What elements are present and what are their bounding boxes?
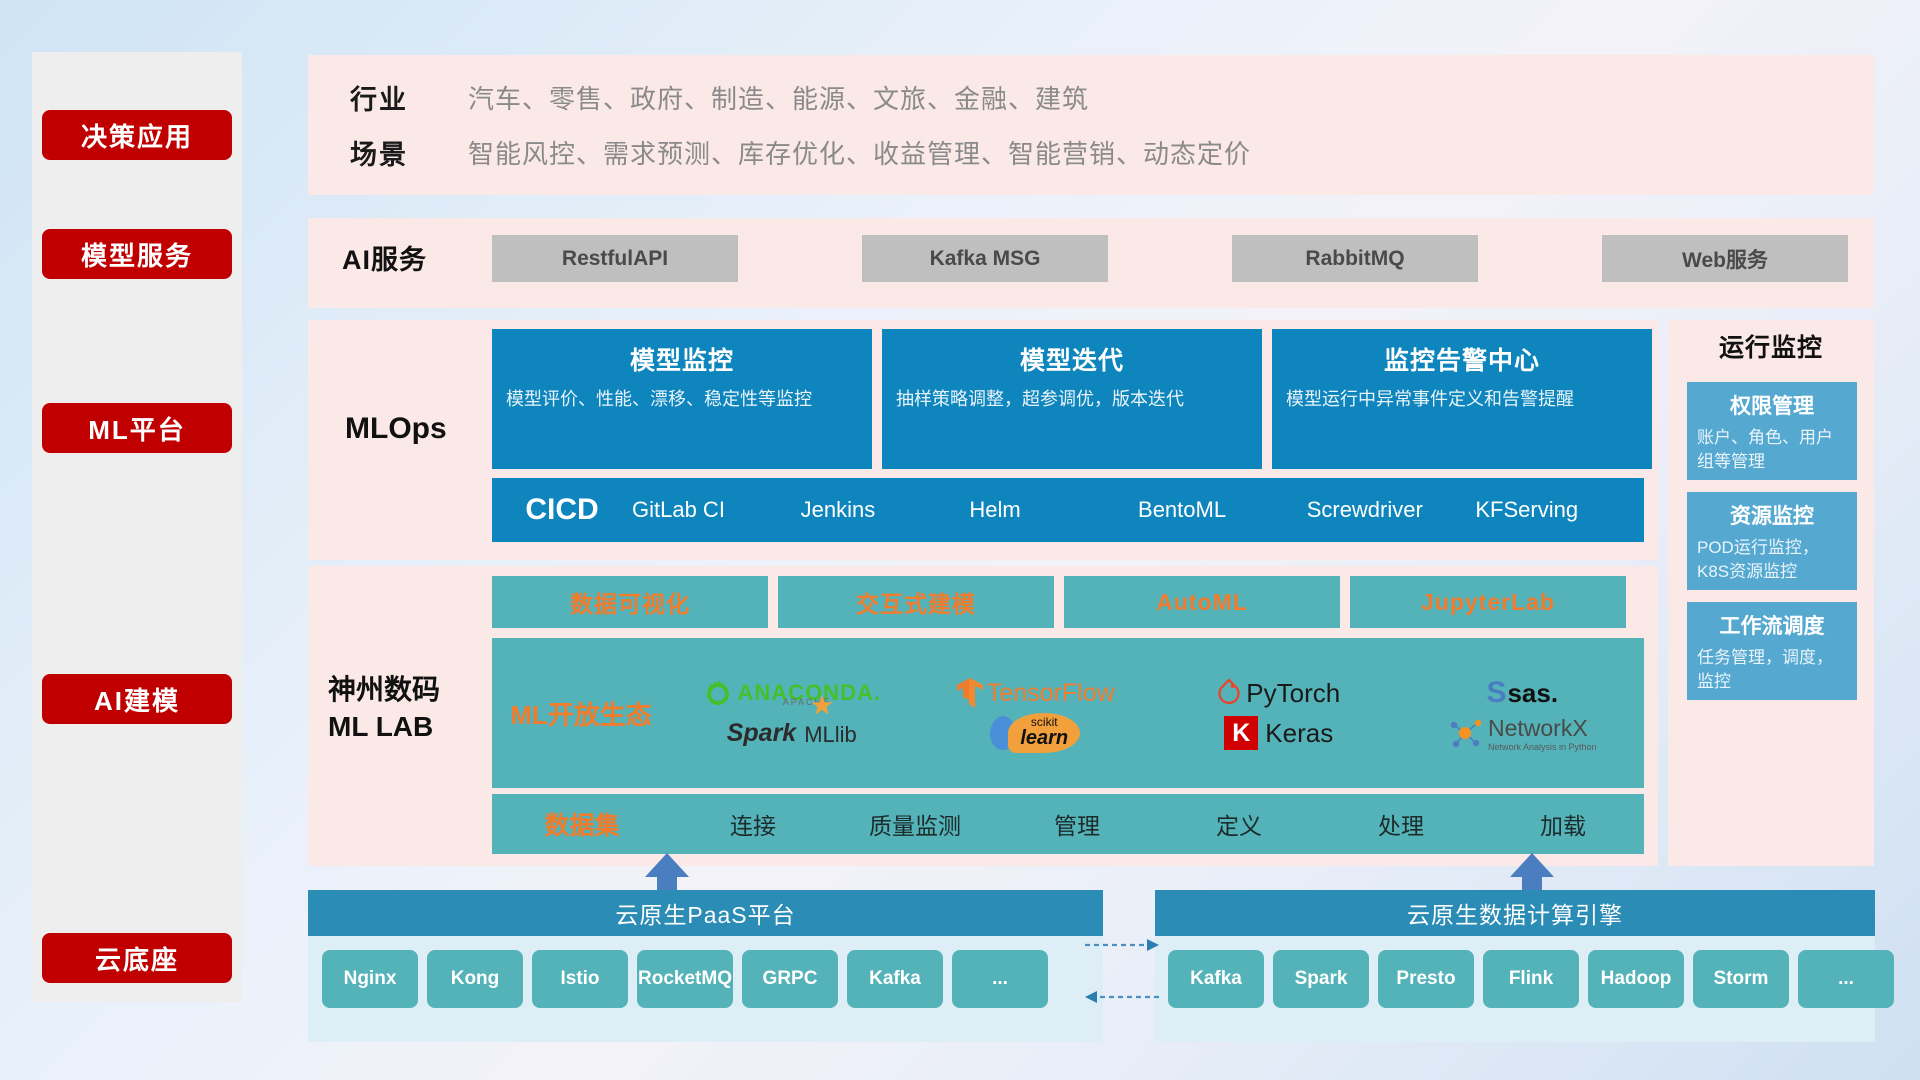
pytorch-logo: PyTorch bbox=[1217, 673, 1340, 713]
dataset-row: 数据集 连接 质量监测 管理 定义 处理 加载 bbox=[492, 794, 1644, 854]
dashed-connectors bbox=[1085, 935, 1175, 1025]
dataset-item-process[interactable]: 处理 bbox=[1320, 807, 1482, 841]
ai-service-label: AI服务 bbox=[342, 238, 427, 277]
networkx-wordmark: NetworkX bbox=[1488, 715, 1597, 742]
networkx-logo: NetworkX Network Analysis in Python bbox=[1448, 713, 1597, 753]
cicd-item-list: GitLab CI Jenkins Helm BentoML Screwdriv… bbox=[632, 497, 1644, 523]
mlops-card-model-iteration[interactable]: 模型迭代 抽样策略调整，超参调优，版本迭代 bbox=[882, 329, 1262, 469]
keras-logo: K Keras bbox=[1224, 713, 1333, 753]
cicd-item-kfserving[interactable]: KFServing bbox=[1475, 497, 1644, 523]
card-title: 模型迭代 bbox=[896, 341, 1248, 377]
mlops-card-list: 模型监控 模型评价、性能、漂移、稳定性等监控 模型迭代 抽样策略调整，超参调优，… bbox=[492, 329, 1652, 469]
cicd-row: CICD GitLab CI Jenkins Helm BentoML Scre… bbox=[492, 478, 1644, 542]
ml-ecosystem-row: ML开放生态 ANACONDA. TensorFlow bbox=[492, 638, 1644, 788]
modeling-tool-list: 数据可视化 交互式建模 AutoML JupyterLab bbox=[492, 576, 1626, 628]
card-desc: 抽样策略调整，超参调优，版本迭代 bbox=[896, 387, 1248, 413]
chip-grpc[interactable]: GRPC bbox=[742, 950, 838, 1008]
ml-ecosystem-title: ML开放生态 bbox=[492, 695, 670, 732]
monitoring-card-permissions[interactable]: 权限管理 账户、角色、用户组等管理 bbox=[1687, 382, 1857, 480]
rail-tag-label: 模型服务 bbox=[81, 236, 193, 273]
card-title: 工作流调度 bbox=[1697, 610, 1847, 640]
card-desc: 账户、角色、用户组等管理 bbox=[1697, 426, 1847, 474]
pytorch-icon bbox=[1217, 678, 1241, 708]
card-title: 资源监控 bbox=[1697, 500, 1847, 530]
applications-panel bbox=[308, 55, 1874, 195]
cicd-item-helm[interactable]: Helm bbox=[969, 497, 1138, 523]
chip-more[interactable]: ... bbox=[1798, 950, 1894, 1008]
spark-mllib-logo: APACHE Spark MLlib bbox=[727, 713, 857, 753]
industry-value: 汽车、零售、政府、制造、能源、文旅、金融、建筑 bbox=[468, 79, 1089, 116]
industry-row: 行业 汽车、零售、政府、制造、能源、文旅、金融、建筑 bbox=[350, 78, 1089, 117]
rail-tag-model-service[interactable]: 模型服务 bbox=[42, 229, 232, 279]
sas-mark: S bbox=[1486, 676, 1506, 710]
networkx-graph-icon bbox=[1448, 716, 1484, 750]
card-title: 模型监控 bbox=[506, 341, 858, 377]
tool-automl[interactable]: AutoML bbox=[1064, 576, 1340, 628]
card-desc: 任务管理，调度，监控 bbox=[1697, 646, 1847, 694]
ml-lab-label-line2: ML LAB bbox=[328, 709, 440, 746]
mlops-label: MLOps bbox=[345, 412, 447, 446]
chip-more[interactable]: ... bbox=[952, 950, 1048, 1008]
card-desc: 模型评价、性能、漂移、稳定性等监控 bbox=[506, 387, 858, 413]
dataset-item-quality[interactable]: 质量监测 bbox=[834, 807, 996, 841]
spark-star-icon bbox=[811, 695, 833, 717]
ai-service-box-list: RestfulAPI Kafka MSG RabbitMQ Web服务 bbox=[492, 235, 1848, 282]
left-rail bbox=[32, 52, 242, 1002]
ml-ecosystem-logo-grid: ANACONDA. TensorFlow PyTorch S sas. bbox=[670, 673, 1644, 753]
scikit-learn-wordmark: scikit learn bbox=[1008, 713, 1080, 753]
paas-chip-list: Nginx Kong Istio RocketMQ GRPC Kafka ... bbox=[322, 950, 1048, 1008]
anaconda-icon bbox=[703, 678, 733, 708]
chip-kong[interactable]: Kong bbox=[427, 950, 523, 1008]
dataset-item-load[interactable]: 加载 bbox=[1482, 807, 1644, 841]
scenario-key: 场景 bbox=[350, 133, 468, 172]
ai-service-box-restfulapi[interactable]: RestfulAPI bbox=[492, 235, 738, 282]
industry-key: 行业 bbox=[350, 78, 468, 117]
ai-service-box-web[interactable]: Web服务 bbox=[1602, 235, 1848, 282]
cicd-item-screwdriver[interactable]: Screwdriver bbox=[1307, 497, 1476, 523]
rail-tag-ai-modeling[interactable]: AI建模 bbox=[42, 674, 232, 724]
ai-service-box-kafka-msg[interactable]: Kafka MSG bbox=[862, 235, 1108, 282]
architecture-diagram: 决策应用 模型服务 ML平台 AI建模 云底座 行业 汽车、零售、政府、制造、能… bbox=[0, 0, 1920, 1080]
chip-storm[interactable]: Storm bbox=[1693, 950, 1789, 1008]
chip-kafka[interactable]: Kafka bbox=[847, 950, 943, 1008]
rail-tag-ml-platform[interactable]: ML平台 bbox=[42, 403, 232, 453]
cicd-item-gitlab-ci[interactable]: GitLab CI bbox=[632, 497, 801, 523]
cicd-item-bentoml[interactable]: BentoML bbox=[1138, 497, 1307, 523]
monitoring-card-resources[interactable]: 资源监控 POD运行监控，K8S资源监控 bbox=[1687, 492, 1857, 590]
ai-service-box-rabbitmq[interactable]: RabbitMQ bbox=[1232, 235, 1478, 282]
spark-wordmark: Spark bbox=[727, 719, 796, 748]
data-engine-chip-list: Kafka Spark Presto Flink Hadoop Storm ..… bbox=[1168, 950, 1894, 1008]
sas-wordmark: sas. bbox=[1507, 678, 1558, 709]
scenario-value: 智能风控、需求预测、库存优化、收益管理、智能营销、动态定价 bbox=[468, 134, 1251, 171]
card-desc: 模型运行中异常事件定义和告警提醒 bbox=[1286, 387, 1638, 413]
chip-flink[interactable]: Flink bbox=[1483, 950, 1579, 1008]
ml-lab-label: 神州数码 ML LAB bbox=[328, 672, 440, 746]
rail-tag-cloud-foundation[interactable]: 云底座 bbox=[42, 933, 232, 983]
pytorch-wordmark: PyTorch bbox=[1246, 678, 1340, 709]
tensorflow-wordmark: TensorFlow bbox=[987, 679, 1115, 708]
rail-tag-decision-apps[interactable]: 决策应用 bbox=[42, 110, 232, 160]
monitoring-card-workflow[interactable]: 工作流调度 任务管理，调度，监控 bbox=[1687, 602, 1857, 700]
monitoring-title: 运行监控 bbox=[1668, 328, 1874, 364]
keras-wordmark: Keras bbox=[1265, 718, 1333, 749]
keras-mark-icon: K bbox=[1224, 716, 1258, 750]
paas-platform-header: 云原生PaaS平台 bbox=[308, 890, 1103, 936]
card-title: 监控告警中心 bbox=[1286, 341, 1638, 377]
rail-tag-label: 云底座 bbox=[95, 940, 179, 977]
dataset-item-list: 连接 质量监测 管理 定义 处理 加载 bbox=[672, 807, 1644, 841]
mllib-wordmark: MLlib bbox=[804, 722, 857, 748]
cicd-label: CICD bbox=[492, 493, 632, 527]
rail-tag-label: AI建模 bbox=[94, 681, 180, 718]
scenario-row: 场景 智能风控、需求预测、库存优化、收益管理、智能营销、动态定价 bbox=[350, 133, 1251, 172]
chip-rocketmq[interactable]: RocketMQ bbox=[637, 950, 733, 1008]
chip-presto[interactable]: Presto bbox=[1378, 950, 1474, 1008]
chip-istio[interactable]: Istio bbox=[532, 950, 628, 1008]
mlops-card-alert-center[interactable]: 监控告警中心 模型运行中异常事件定义和告警提醒 bbox=[1272, 329, 1652, 469]
sas-logo: S sas. bbox=[1486, 673, 1558, 713]
mlops-card-model-monitoring[interactable]: 模型监控 模型评价、性能、漂移、稳定性等监控 bbox=[492, 329, 872, 469]
cicd-item-jenkins[interactable]: Jenkins bbox=[801, 497, 970, 523]
chip-kafka[interactable]: Kafka bbox=[1168, 950, 1264, 1008]
anaconda-logo: ANACONDA. bbox=[703, 673, 881, 713]
data-engine-header: 云原生数据计算引擎 bbox=[1155, 890, 1875, 936]
rail-tag-label: 决策应用 bbox=[81, 117, 193, 154]
chip-spark[interactable]: Spark bbox=[1273, 950, 1369, 1008]
dataset-label: 数据集 bbox=[492, 806, 672, 842]
dataset-item-manage[interactable]: 管理 bbox=[996, 807, 1158, 841]
networkx-tagline: Network Analysis in Python bbox=[1488, 742, 1597, 752]
scikit-bottom-label: learn bbox=[1020, 728, 1068, 748]
card-desc: POD运行监控，K8S资源监控 bbox=[1697, 536, 1847, 584]
tool-data-visualization[interactable]: 数据可视化 bbox=[492, 576, 768, 628]
tool-interactive-modeling[interactable]: 交互式建模 bbox=[778, 576, 1054, 628]
rail-tag-label: ML平台 bbox=[88, 410, 186, 447]
chip-hadoop[interactable]: Hadoop bbox=[1588, 950, 1684, 1008]
scikit-learn-logo: scikit learn bbox=[990, 713, 1080, 753]
tool-jupyterlab[interactable]: JupyterLab bbox=[1350, 576, 1626, 628]
dataset-item-define[interactable]: 定义 bbox=[1158, 807, 1320, 841]
chip-nginx[interactable]: Nginx bbox=[322, 950, 418, 1008]
dataset-item-connect[interactable]: 连接 bbox=[672, 807, 834, 841]
ml-lab-label-line1: 神州数码 bbox=[328, 672, 440, 709]
card-title: 权限管理 bbox=[1697, 390, 1847, 420]
tensorflow-logo: TensorFlow bbox=[956, 673, 1115, 713]
tensorflow-icon bbox=[956, 677, 984, 709]
